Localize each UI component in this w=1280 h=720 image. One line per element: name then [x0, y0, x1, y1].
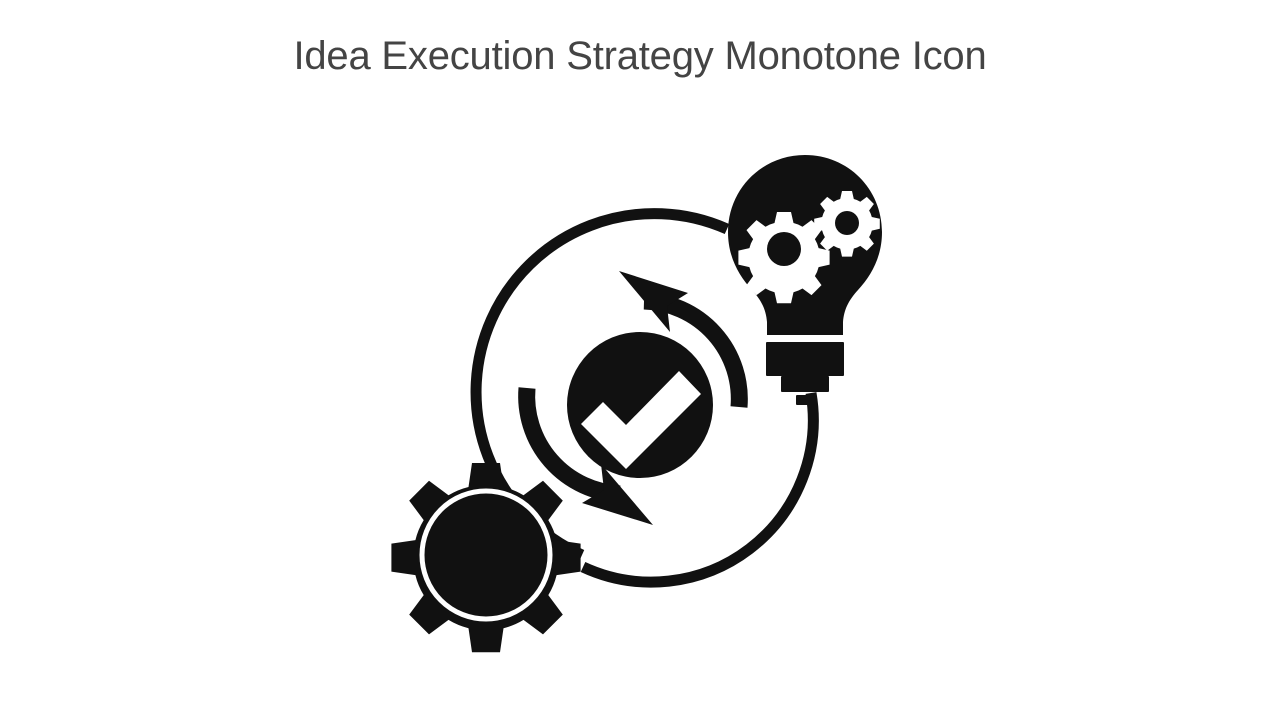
slide-canvas: Idea Execution Strategy Monotone Icon: [0, 0, 1280, 720]
bulb-gear-large-hub: [767, 232, 801, 266]
bulb-screw-base: [766, 342, 844, 376]
check-circle: [567, 332, 713, 478]
idea-execution-strategy-icon: [370, 130, 910, 680]
light-bulb: [728, 155, 882, 405]
settings-gear: [391, 463, 580, 652]
bulb-gear-small-hub: [835, 211, 859, 235]
check-circle-disc: [567, 332, 713, 478]
bulb-contact-foot: [796, 395, 814, 405]
page-title: Idea Execution Strategy Monotone Icon: [0, 32, 1280, 80]
icon-svg: [370, 130, 910, 680]
bulb-base-tab: [781, 376, 829, 392]
